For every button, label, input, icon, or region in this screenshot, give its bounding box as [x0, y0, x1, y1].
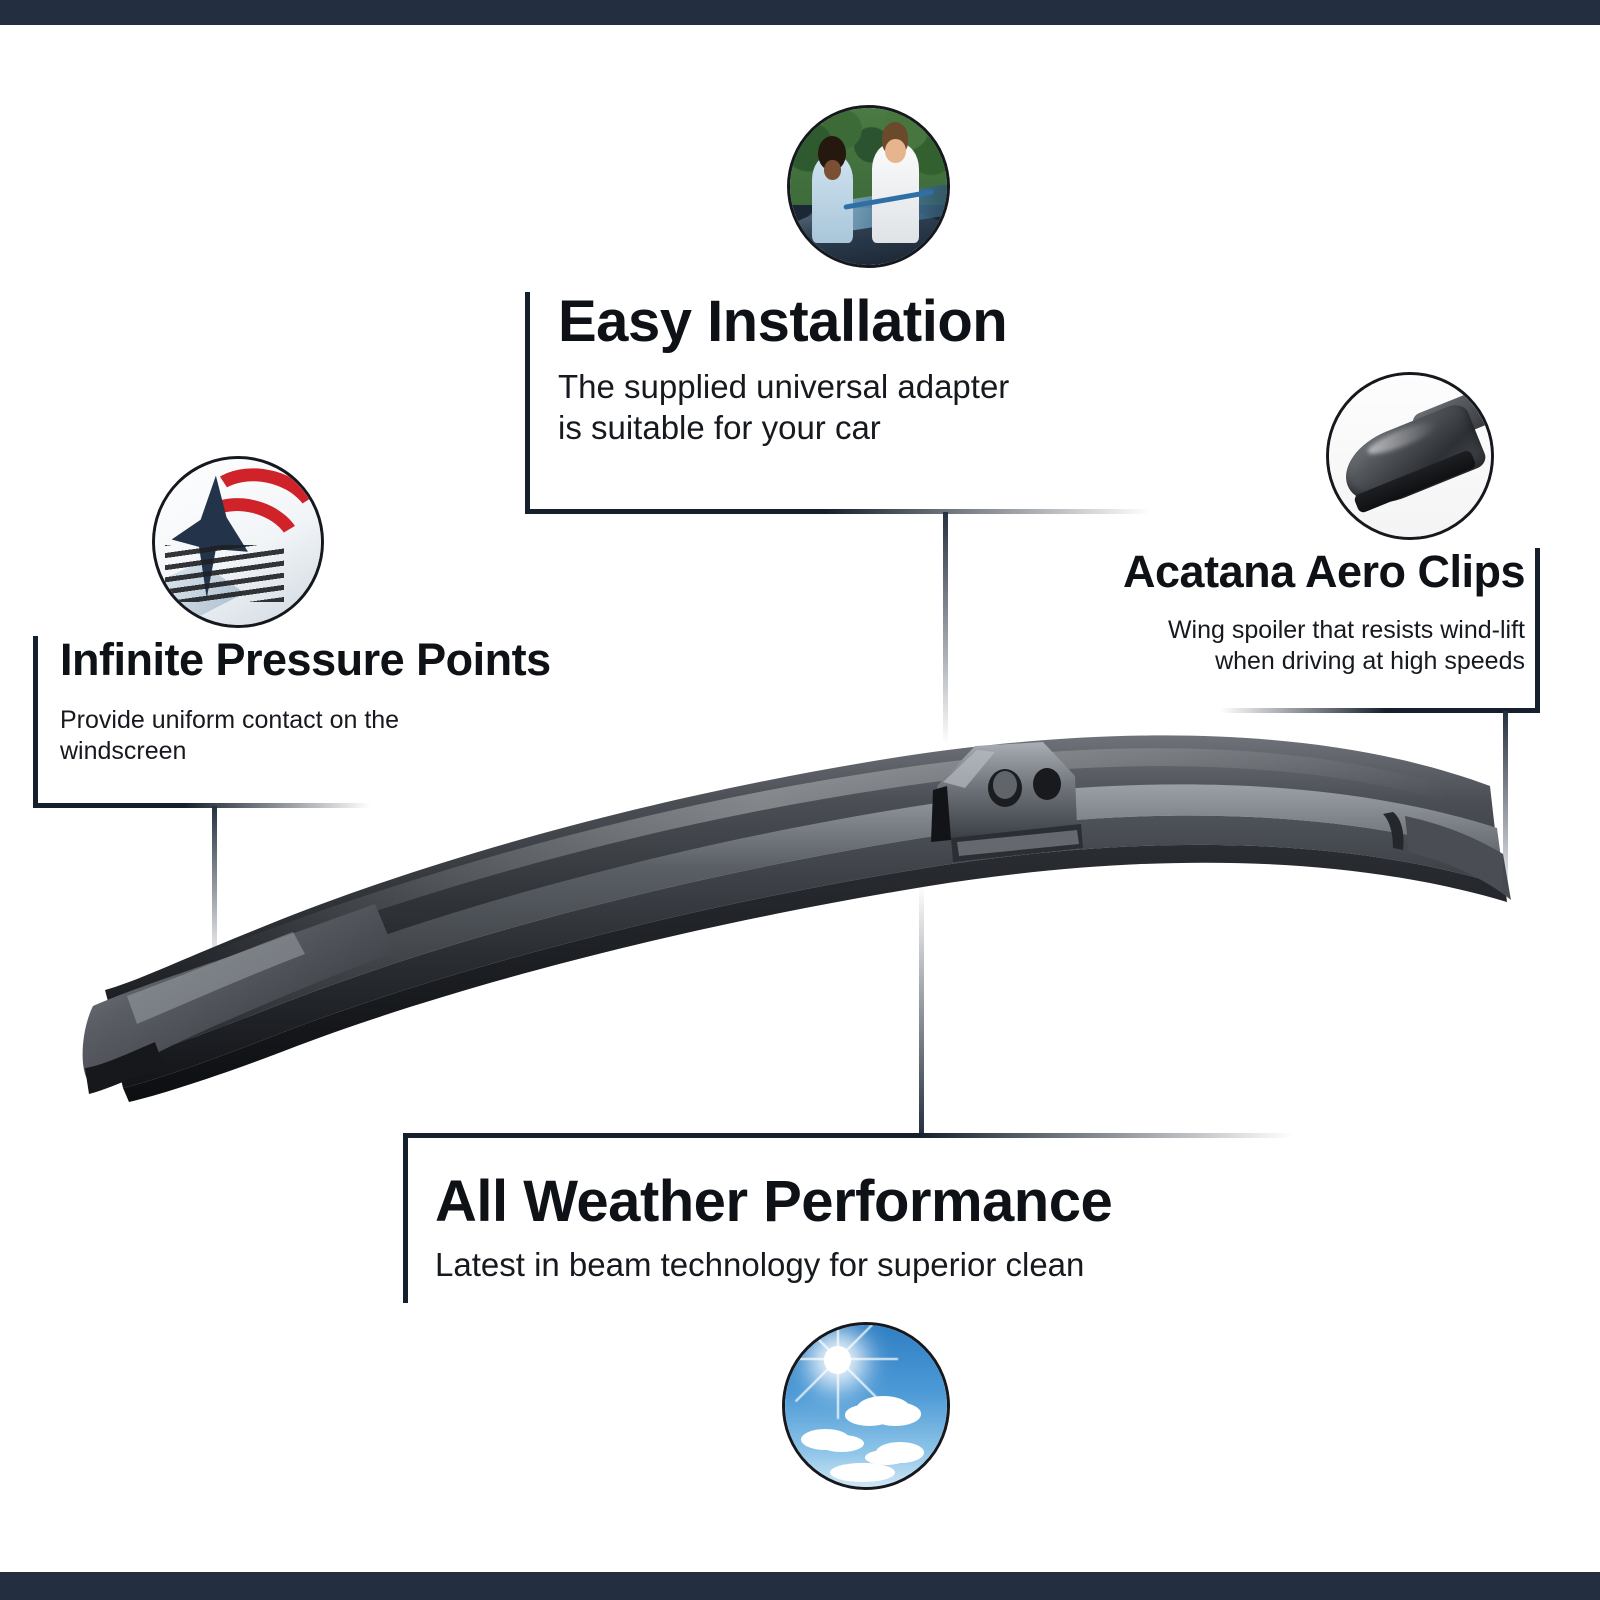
- aero-clip-photo-icon: [1326, 372, 1494, 540]
- feature-acatana-aero-clips: Acatana Aero Clips Wing spoiler that res…: [1000, 548, 1525, 677]
- installation-photo-icon: [787, 105, 950, 268]
- easy-installation-subtitle-line-2: is suitable for your car: [558, 408, 1148, 449]
- easy-installation-title: Easy Installation: [558, 292, 1148, 353]
- all-weather-performance-title: All Weather Performance: [435, 1172, 1335, 1233]
- feature-easy-installation: Easy Installation The supplied universal…: [558, 292, 1148, 449]
- easy-installation-subtitle-line-1: The supplied universal adapter: [558, 367, 1148, 408]
- infographic-canvas: Easy Installation The supplied universal…: [0, 0, 1600, 1600]
- all-weather-performance-connector-stem: [919, 885, 924, 1133]
- acatana-aero-clips-subtitle-line-2: when driving at high speeds: [1000, 646, 1525, 677]
- infinite-pressure-points-connector-stem: [212, 806, 217, 968]
- acatana-aero-clips-subtitle-line-1: Wing spoiler that resists wind-lift: [1000, 615, 1525, 646]
- blue-sky-sun-photo-icon: [782, 1322, 950, 1490]
- infinite-pressure-points-title: Infinite Pressure Points: [60, 636, 700, 683]
- all-weather-performance-subtitle-line-1: Latest in beam technology for superior c…: [435, 1245, 1335, 1286]
- feature-infinite-pressure-points: Infinite Pressure Points Provide uniform…: [60, 636, 700, 767]
- infinite-pressure-points-subtitle-line-2: windscreen: [60, 736, 700, 767]
- acatana-aero-clips-title: Acatana Aero Clips: [1000, 548, 1525, 595]
- pressure-points-diagram-icon: [152, 456, 324, 628]
- feature-all-weather-performance: All Weather Performance Latest in beam t…: [435, 1172, 1335, 1286]
- acatana-aero-clips-connector-stem: [1503, 711, 1508, 907]
- infinite-pressure-points-subtitle-line-1: Provide uniform contact on the: [60, 705, 700, 736]
- top-accent-bar: [0, 0, 1600, 25]
- easy-installation-connector-stem: [943, 512, 948, 744]
- bottom-accent-bar: [0, 1572, 1600, 1600]
